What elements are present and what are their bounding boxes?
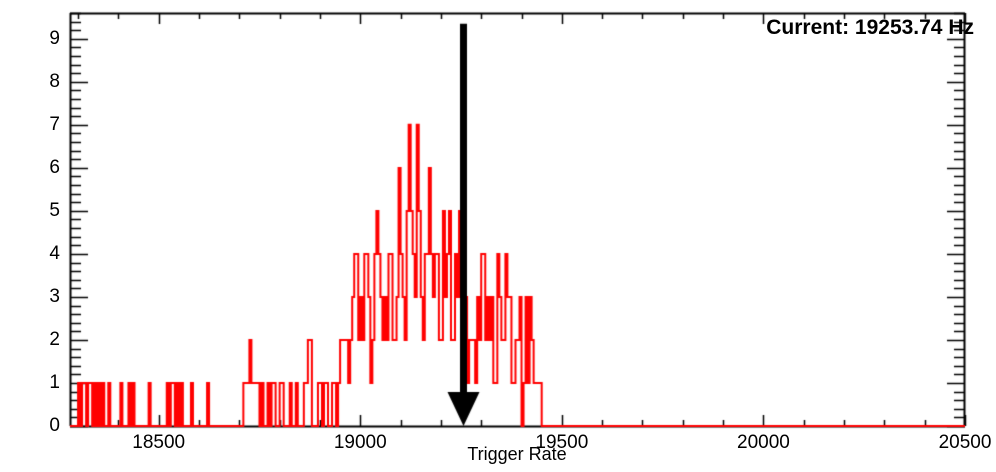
y-tick-label: 9 — [32, 28, 60, 50]
y-tick-label: 6 — [32, 157, 60, 179]
y-tick-label: 1 — [32, 372, 60, 394]
trigger-rate-histogram-canvas — [0, 0, 996, 472]
y-tick-label: 3 — [32, 286, 60, 308]
x-tick-label: 20000 — [737, 432, 790, 454]
y-tick-label: 2 — [32, 329, 60, 351]
y-tick-label: 7 — [32, 114, 60, 136]
y-tick-label: 4 — [32, 243, 60, 265]
x-tick-label: 20500 — [939, 432, 992, 454]
y-tick-label: 0 — [32, 415, 60, 437]
current-rate-label: Current: 19253.74 Hz — [766, 16, 974, 40]
y-tick-label: 8 — [32, 71, 60, 93]
y-tick-label: 5 — [32, 200, 60, 222]
x-tick-label: 18500 — [132, 432, 185, 454]
histogram-plot-window: Current: 19253.74 Hz Trigger Rate 185001… — [0, 0, 996, 472]
x-tick-label: 19500 — [535, 432, 588, 454]
x-tick-label: 19000 — [334, 432, 387, 454]
